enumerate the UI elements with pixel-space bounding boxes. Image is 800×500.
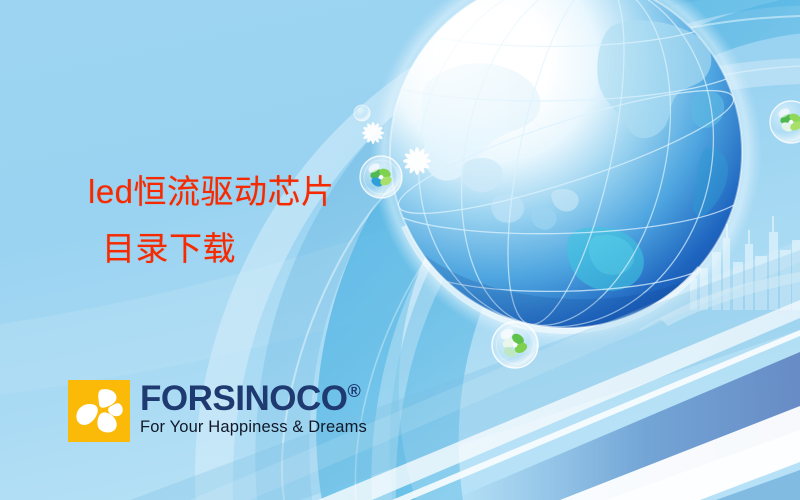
logo-wordmark: FORSINOCO® For Your Happiness & Dreams [140, 380, 367, 437]
headline-text: led恒流驱动芯片 目录下载 [88, 164, 418, 278]
brand-tagline: For Your Happiness & Dreams [140, 418, 367, 437]
promo-banner: led恒流驱动芯片 目录下载 FORSINOCO® Fo [0, 0, 800, 500]
brand-name: FORSINOCO® [140, 380, 367, 416]
bubble-pinwheel-2 [492, 322, 538, 368]
forsinoco-pinwheel-mark [68, 380, 130, 442]
headline-line-2: 目录下载 [88, 221, 418, 278]
pinwheel-petals-icon [68, 380, 130, 442]
company-logo: FORSINOCO® For Your Happiness & Dreams [68, 380, 367, 442]
headline-line-1: led恒流驱动芯片 [88, 164, 418, 221]
registered-trademark-icon: ® [347, 381, 360, 401]
bubble-small [354, 105, 370, 121]
brand-name-text: FORSINOCO [140, 379, 347, 418]
